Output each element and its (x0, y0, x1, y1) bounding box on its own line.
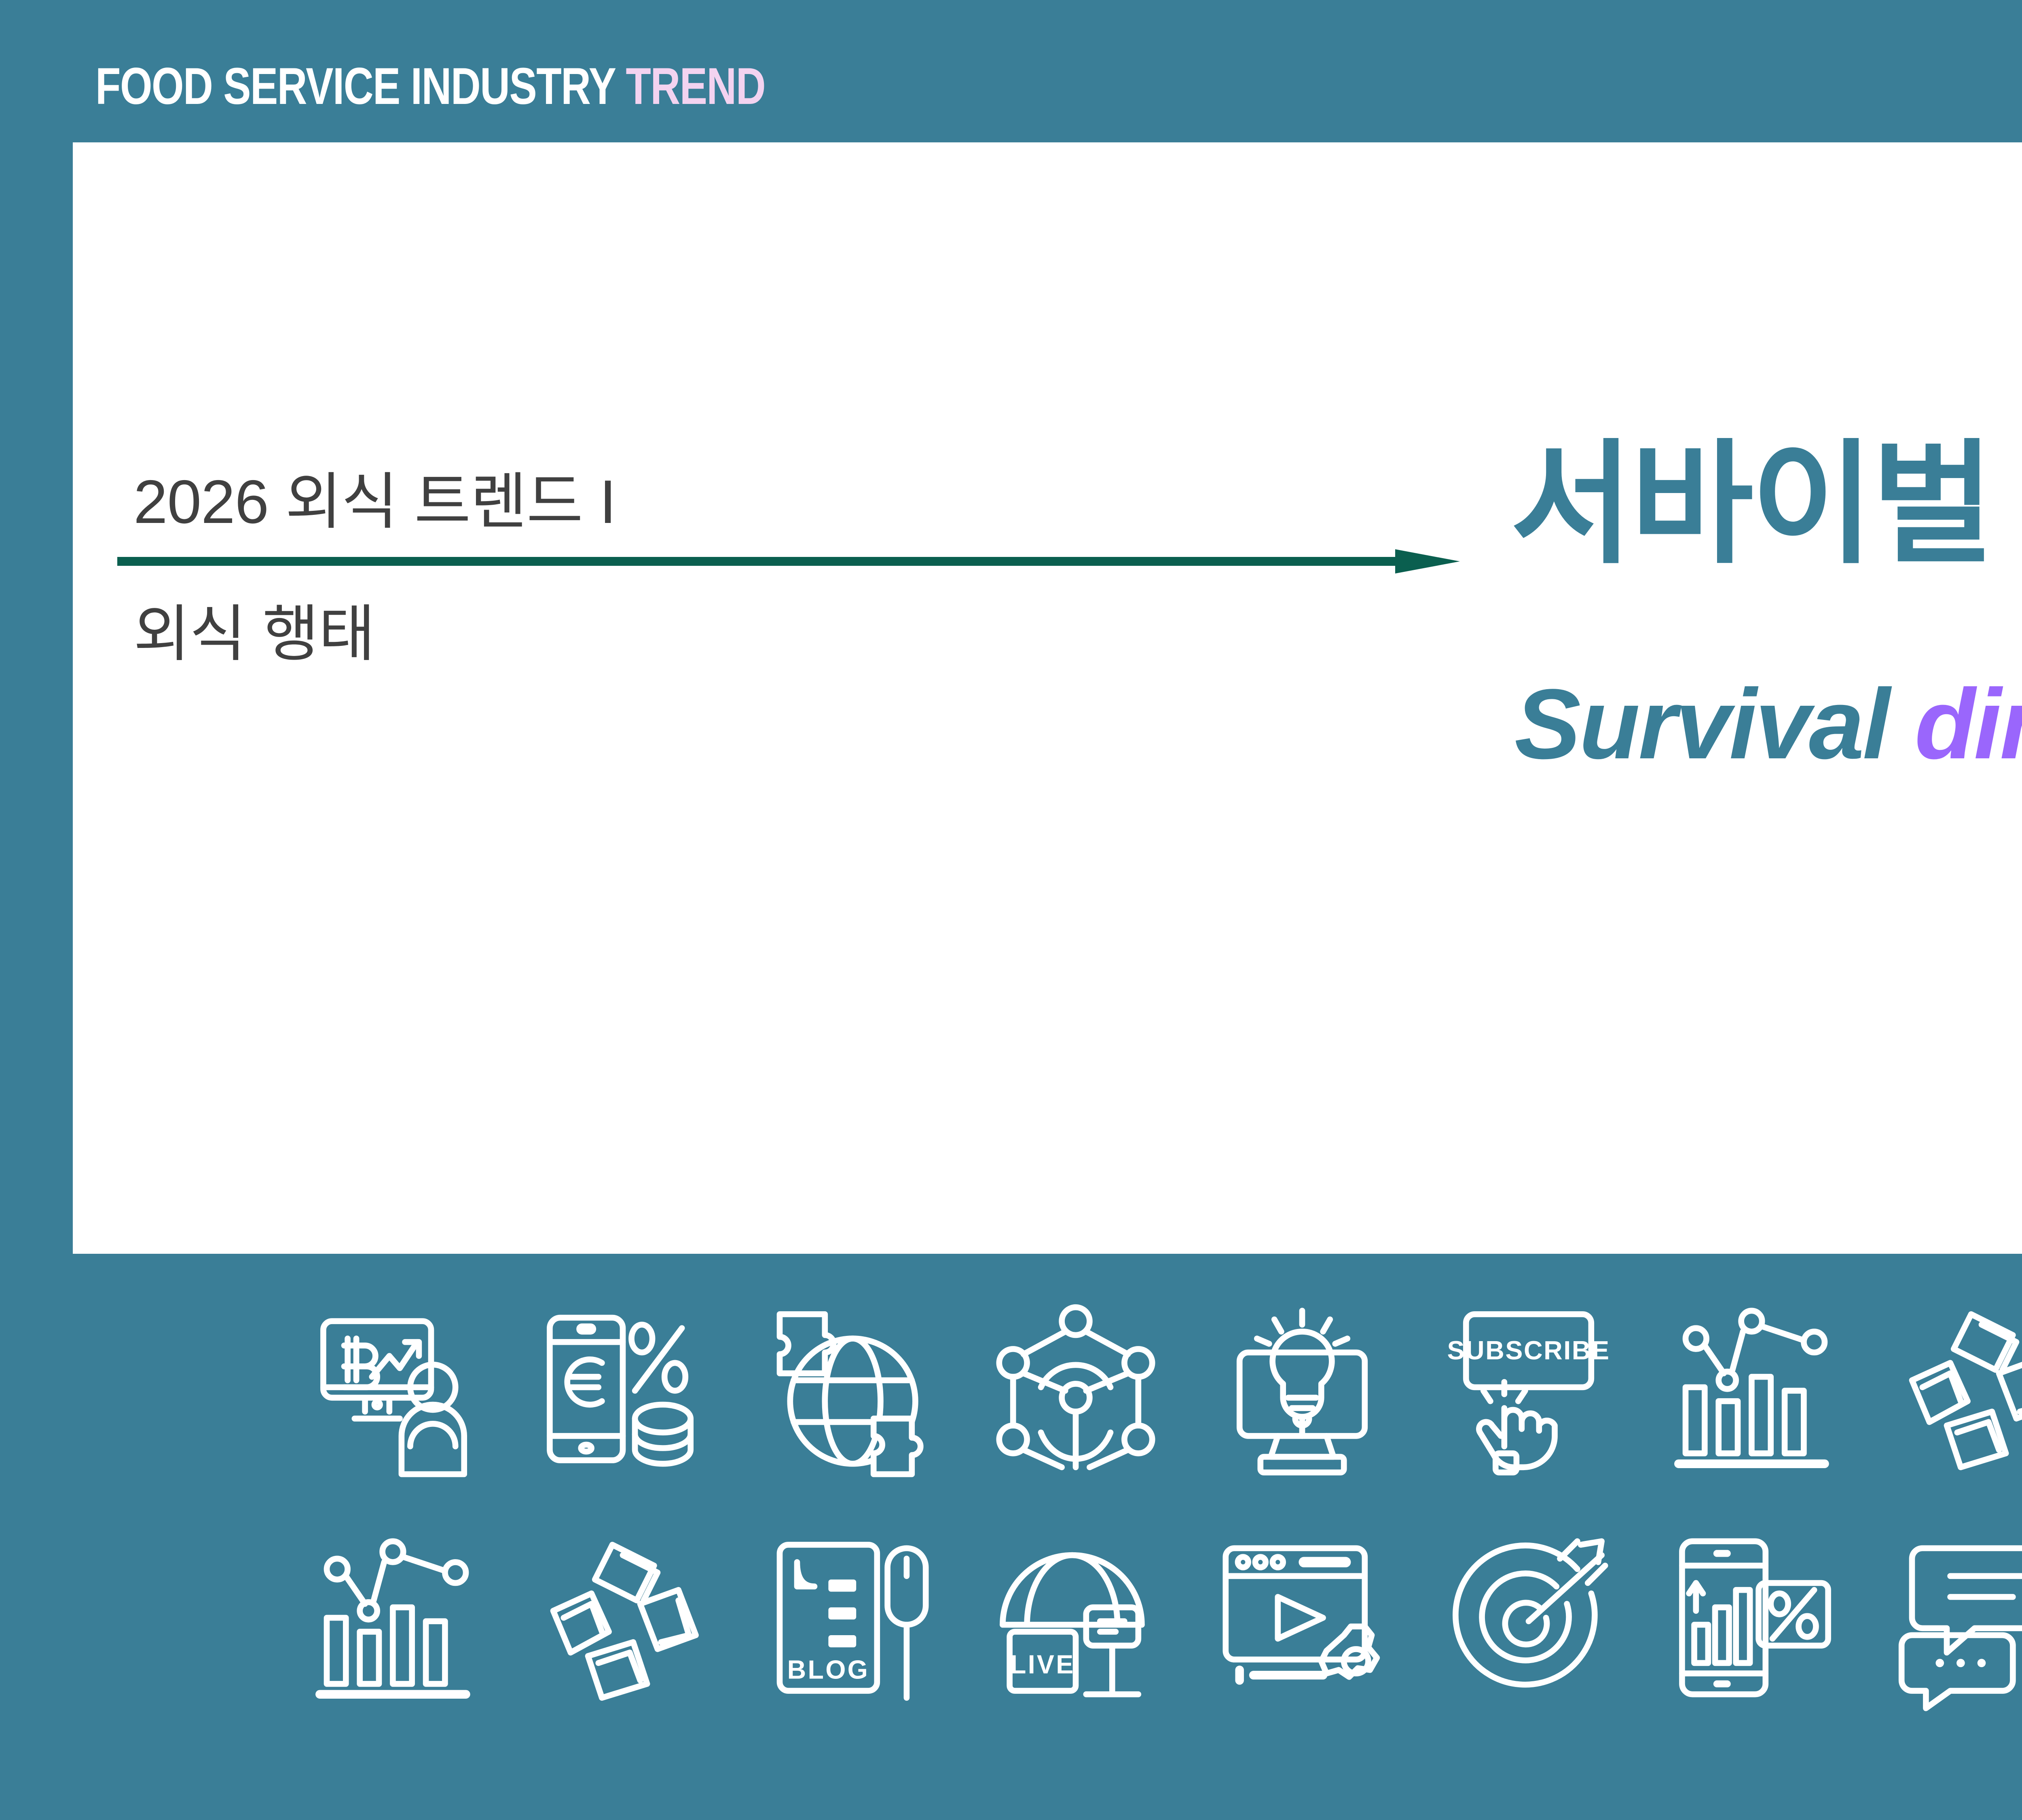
chat-bubbles-icon (1868, 1521, 2022, 1715)
title-ko-primary: 서바이벌 (1510, 430, 1992, 579)
recycling-arrows-icon (1868, 1290, 2022, 1484)
eyebrow-primary-text: FOOD SERVICE INDUSTRY (95, 57, 615, 115)
subscribe-button-click-icon: SUBSCRIBE (1415, 1290, 1642, 1484)
icon-strip-row-1: SUBSCRIBE (283, 1290, 2022, 1484)
slide-kicker-label: 2026 외식 트렌드 I (133, 471, 616, 533)
video-player-settings-icon (1189, 1521, 1415, 1715)
page-eyebrow: FOOD SERVICE INDUSTRY TREND (95, 61, 765, 112)
subscribe-icon-label: SUBSCRIBE (1447, 1336, 1610, 1365)
bar-chart-line-growth-icon (1642, 1290, 1868, 1484)
title-en-primary: Survival (1514, 669, 1889, 780)
blog-document-mouse-icon: BLOG (736, 1521, 962, 1715)
globe-puzzle-icon (736, 1290, 962, 1484)
blog-icon-label: BLOG (787, 1655, 870, 1685)
bitcoin-trading-monitor-icon (283, 1290, 510, 1484)
title-en-accent: dining (1915, 669, 2022, 780)
slide-subject-label: 외식 행태 (133, 603, 375, 665)
recycling-arrows-icon (510, 1521, 736, 1715)
live-broadcast-globe-icon: LIVE (962, 1521, 1189, 1715)
mobile-euro-coins-percent-icon (510, 1290, 736, 1484)
network-nodes-icon (962, 1290, 1189, 1484)
page-title-english: Survival dining (1514, 675, 2022, 774)
live-icon-label: LIVE (1010, 1650, 1075, 1679)
divider-arrow (117, 549, 1460, 574)
target-arrows-icon (1415, 1521, 1642, 1715)
eyebrow-accent-text: TREND (626, 57, 765, 115)
page-title-korean: 서바이벌 다이닝 (1510, 438, 2022, 571)
bar-chart-line-growth-icon (283, 1521, 510, 1715)
idea-lightbulb-monitor-icon (1189, 1290, 1415, 1484)
icon-strip-row-2: BLOG LIVE (283, 1521, 2022, 1715)
mobile-chart-percent-icon (1642, 1521, 1868, 1715)
